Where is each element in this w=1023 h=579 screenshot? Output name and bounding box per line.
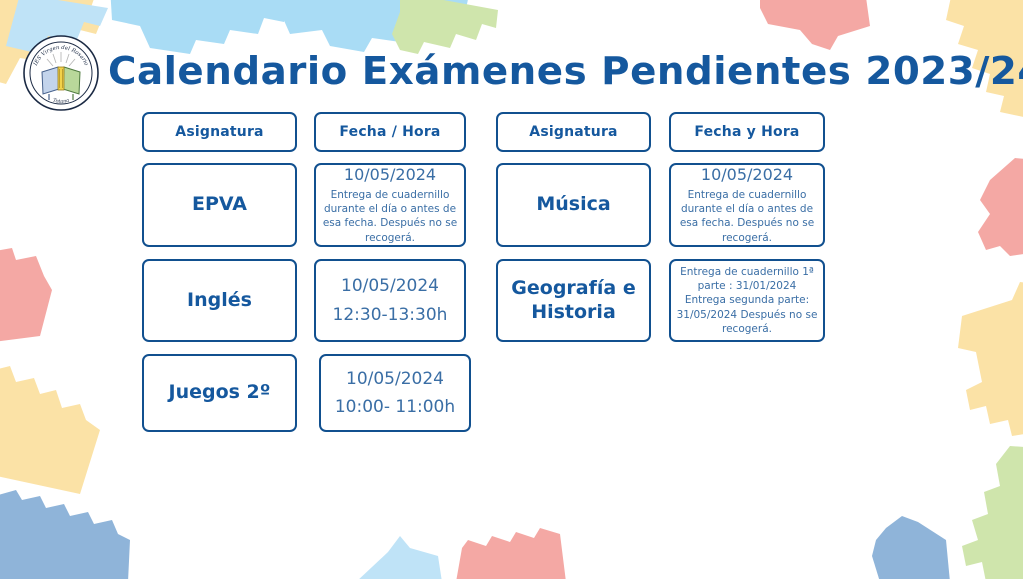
confetti-shape-yellow-bottomleft — [0, 366, 100, 494]
date-cell-musica: 10/05/2024 Entrega de cuadernillo durant… — [669, 163, 825, 247]
school-logo-icon: IES Virgen del Rosario Totana — [22, 34, 100, 112]
table-row: Inglés 10/05/2024 12:30-13:30h Geografía… — [142, 259, 882, 342]
date-cell-epva: 10/05/2024 Entrega de cuadernillo durant… — [314, 163, 466, 247]
time-value: 10:00- 11:00h — [335, 396, 455, 418]
date-value: 10/05/2024 — [701, 165, 793, 186]
column-header-asignatura-2: Asignatura — [496, 112, 651, 152]
confetti-shape-blue-bottomright — [872, 516, 950, 579]
poster-header: IES Virgen del Rosario Totana Calendario… — [0, 40, 1023, 102]
confetti-shape-pink-right — [978, 158, 1023, 256]
table-row: EPVA 10/05/2024 Entrega de cuadernillo d… — [142, 163, 882, 247]
date-value: 10/05/2024 — [344, 165, 436, 186]
column-header-asignatura-1: Asignatura — [142, 112, 297, 152]
column-header-fecha-y-hora: Fecha y Hora — [669, 112, 825, 152]
confetti-shape-blue-bottomleft — [0, 490, 130, 579]
time-value: 12:30-13:30h — [333, 304, 448, 326]
subject-cell-juegos-2: Juegos 2º — [142, 354, 297, 432]
confetti-shape-lightblue-bottom — [356, 536, 442, 579]
confetti-shape-yellow-right — [958, 282, 1023, 436]
exam-schedule-table: Asignatura Fecha / Hora Asignatura Fecha… — [142, 112, 882, 432]
column-header-fecha-hora: Fecha / Hora — [314, 112, 466, 152]
date-note: Entrega de cuadernillo durante el día o … — [321, 188, 459, 245]
page-title: Calendario Exámenes Pendientes 2023/24 — [108, 49, 1023, 93]
date-cell-geografia-historia: Entrega de cuadernillo 1ª parte : 31/01/… — [669, 259, 825, 342]
date-value: 10/05/2024 — [346, 368, 444, 390]
subject-cell-ingles: Inglés — [142, 259, 297, 342]
date-value: 10/05/2024 — [341, 275, 439, 297]
subject-cell-epva: EPVA — [142, 163, 297, 247]
date-note: Entrega de cuadernillo 1ª parte : 31/01/… — [676, 265, 818, 336]
subject-cell-geografia-historia: Geografía e Historia — [496, 259, 651, 342]
poster-canvas: IES Virgen del Rosario Totana Calendario… — [0, 0, 1023, 579]
school-logo: IES Virgen del Rosario Totana — [22, 34, 100, 112]
confetti-shape-pink-bottom — [456, 528, 566, 579]
confetti-shape-pink-left — [0, 248, 52, 344]
confetti-shape-green-right — [962, 446, 1023, 579]
date-note: Entrega de cuadernillo durante el día o … — [676, 188, 818, 245]
table-row: Juegos 2º 10/05/2024 10:00- 11:00h — [142, 354, 882, 432]
subject-cell-musica: Música — [496, 163, 651, 247]
table-header-row: Asignatura Fecha / Hora Asignatura Fecha… — [142, 112, 882, 152]
date-cell-ingles: 10/05/2024 12:30-13:30h — [314, 259, 466, 342]
date-cell-juegos-2: 10/05/2024 10:00- 11:00h — [319, 354, 471, 432]
